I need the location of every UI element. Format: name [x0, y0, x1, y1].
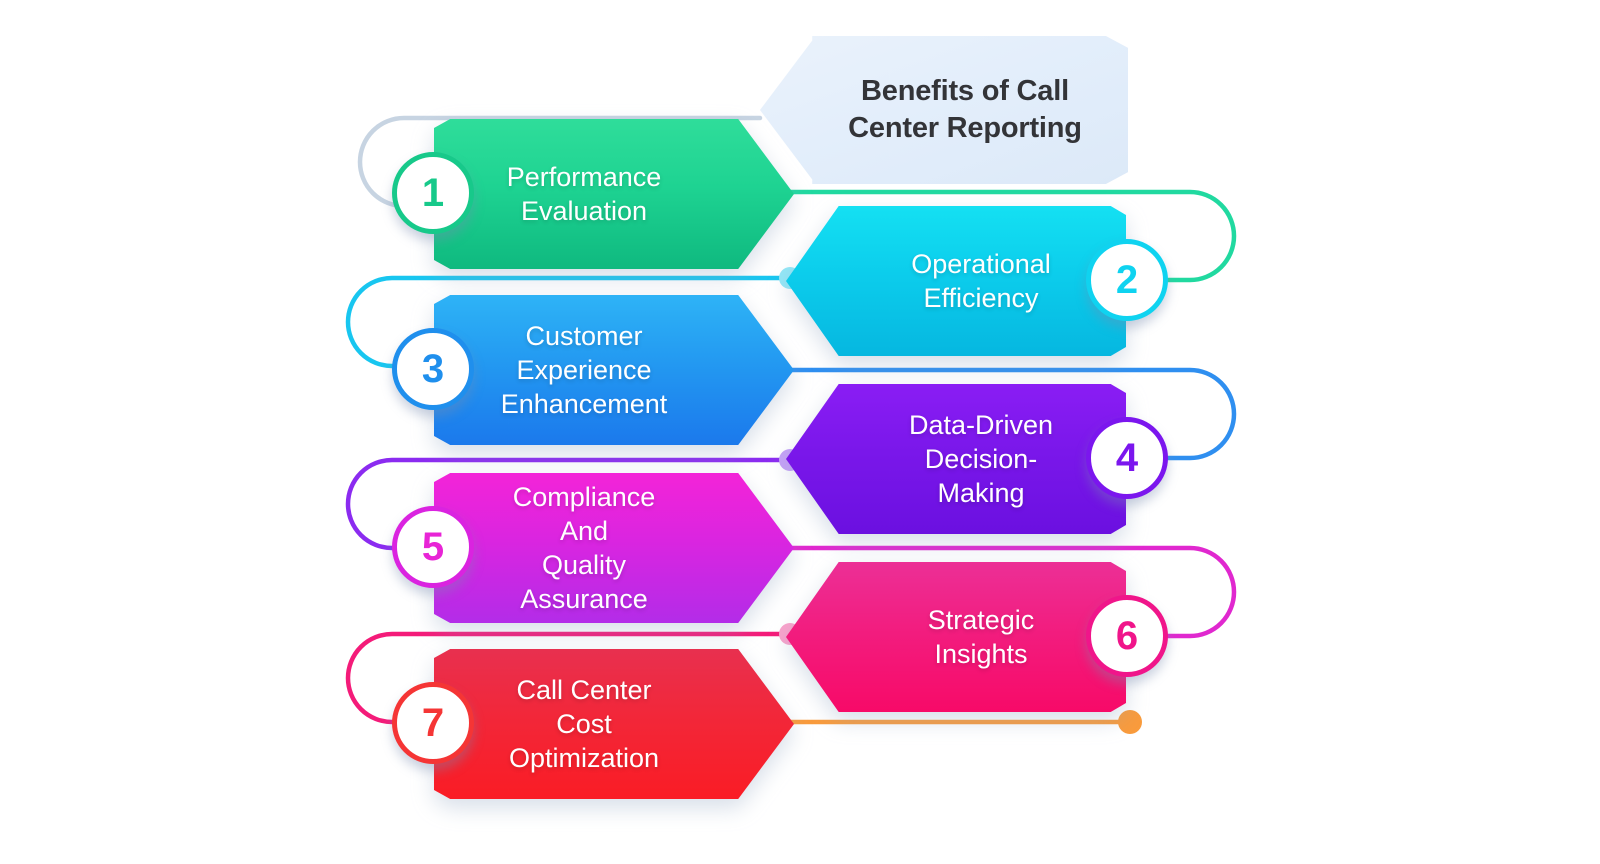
chevron-1: [434, 119, 794, 269]
number-badge-6[interactable]: 6: [1086, 595, 1168, 677]
page-title: Benefits of Call Center Reporting: [796, 73, 1092, 147]
number-badge-3-text: 3: [422, 347, 444, 392]
number-badge-3[interactable]: 3: [392, 328, 474, 410]
number-badge-4-text: 4: [1116, 436, 1138, 481]
item-row-6[interactable]: Strategic Insights: [786, 562, 1126, 712]
number-badge-2[interactable]: 2: [1086, 239, 1168, 321]
number-badge-7[interactable]: 7: [392, 682, 474, 764]
title-banner: Benefits of Call Center Reporting: [760, 36, 1128, 184]
item-row-7[interactable]: Call Center Cost Optimization: [434, 649, 794, 799]
chevron-3: [434, 295, 794, 445]
number-badge-2-text: 2: [1116, 258, 1138, 303]
chevron-5: [434, 473, 794, 623]
chevron-4: [786, 384, 1126, 534]
title-line-2: Center Reporting: [848, 110, 1082, 147]
infographic-canvas: Benefits of Call Center Reporting Perfor…: [0, 0, 1600, 864]
item-row-5[interactable]: Compliance And Quality Assurance: [434, 473, 794, 623]
item-row-3[interactable]: Customer Experience Enhancement: [434, 295, 794, 445]
number-badge-5[interactable]: 5: [392, 506, 474, 588]
end-dot: [1118, 710, 1142, 734]
number-badge-1[interactable]: 1: [392, 152, 474, 234]
title-line-1: Benefits of Call: [848, 73, 1082, 110]
number-badge-6-text: 6: [1116, 614, 1138, 659]
number-badge-1-text: 1: [422, 171, 444, 216]
item-row-1[interactable]: Performance Evaluation: [434, 119, 794, 269]
chevron-2: [786, 206, 1126, 356]
number-badge-5-text: 5: [422, 525, 444, 570]
item-row-2[interactable]: Operational Efficiency: [786, 206, 1126, 356]
number-badge-7-text: 7: [422, 701, 444, 746]
number-badge-4[interactable]: 4: [1086, 417, 1168, 499]
item-row-4[interactable]: Data-Driven Decision-Making: [786, 384, 1126, 534]
chevron-6: [786, 562, 1126, 712]
chevron-7: [434, 649, 794, 799]
